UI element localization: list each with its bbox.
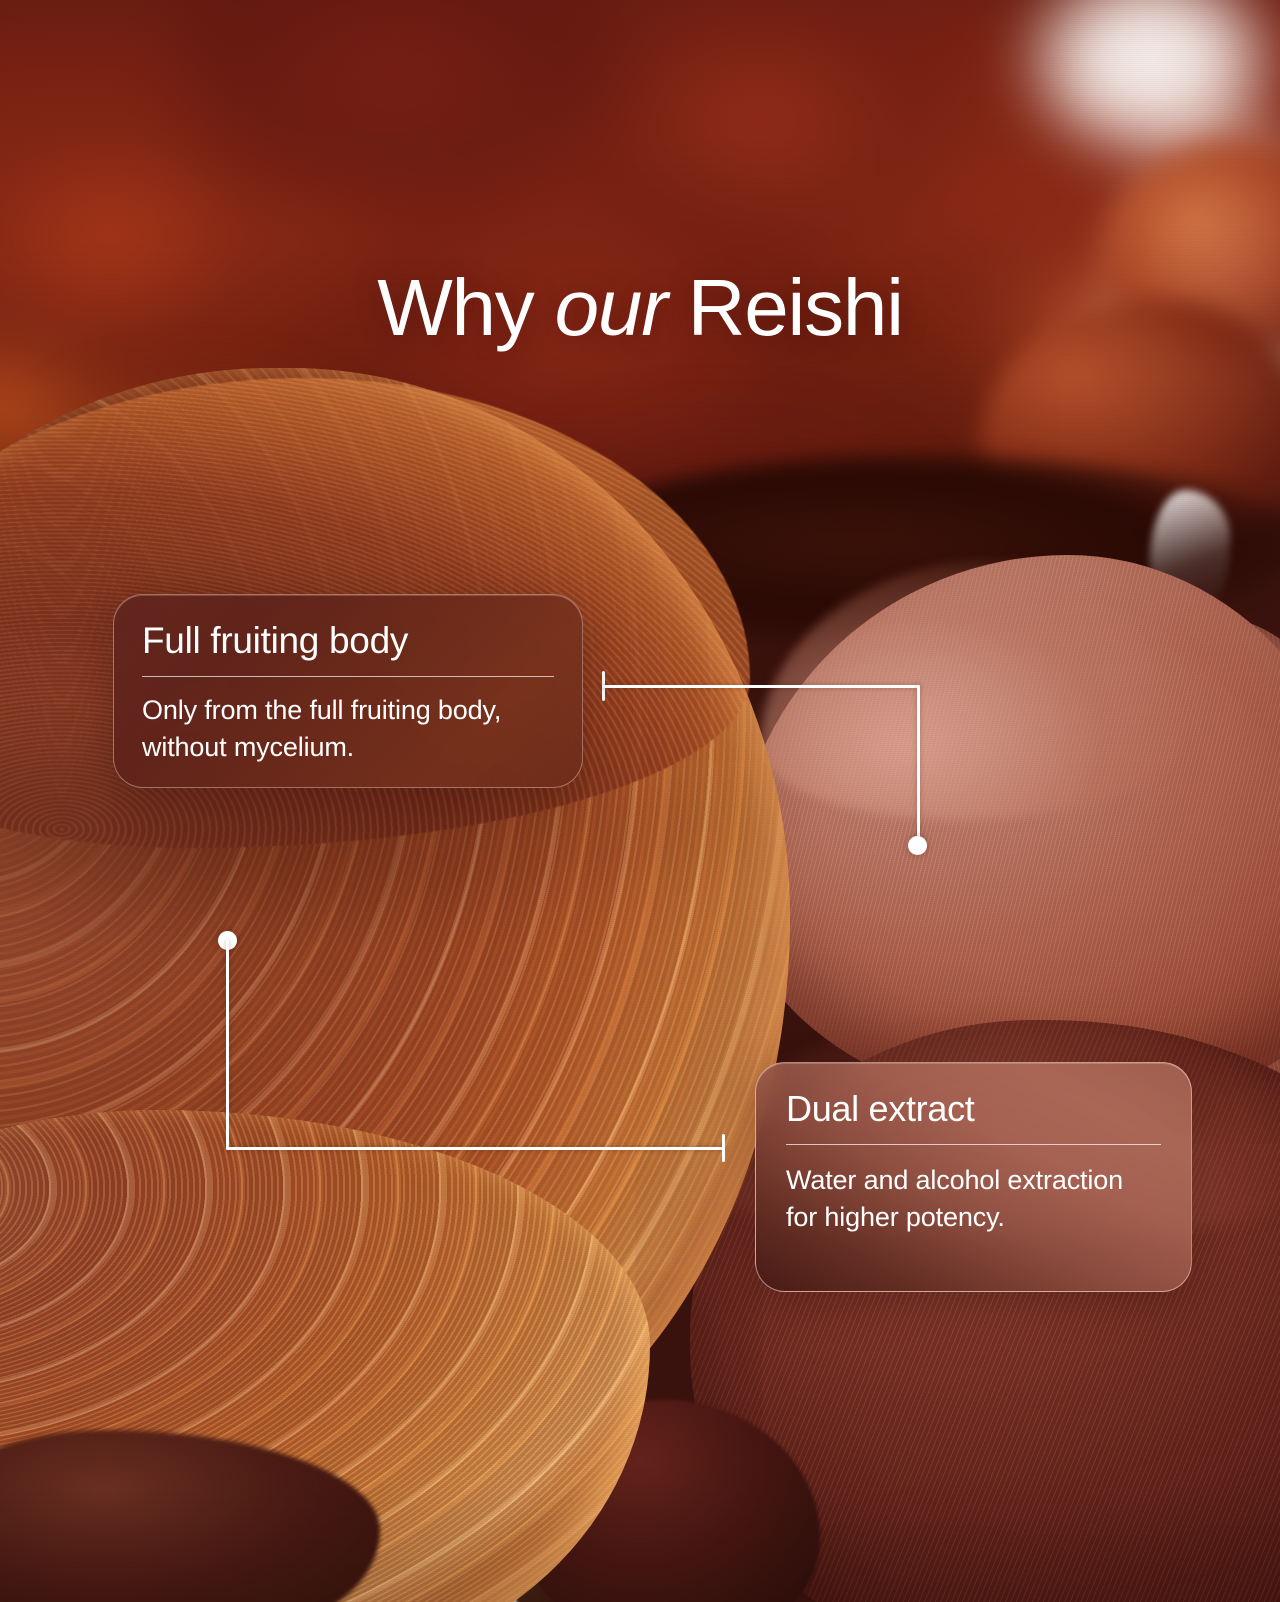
callout-card-full-fruiting-body[interactable]: Full fruiting body Only from the full fr…	[113, 594, 583, 788]
callout-card-dual-extract[interactable]: Dual extract Water and alcohol extractio…	[755, 1062, 1192, 1292]
title-part-before: Why	[377, 263, 554, 352]
bottom-vignette	[0, 1482, 1280, 1602]
title-part-after: Reishi	[667, 263, 903, 352]
callout-divider	[786, 1144, 1161, 1145]
reishi-photo-background	[0, 0, 1280, 1602]
callout-body: Only from the full fruiting body, withou…	[142, 692, 554, 767]
callout-divider	[142, 676, 554, 677]
page-title: Why our Reishi	[0, 266, 1280, 351]
callout-body: Water and alcohol extraction for higher …	[786, 1162, 1161, 1237]
marketing-banner: Why our Reishi Full fruiting body Only f…	[0, 0, 1280, 1602]
callout-title: Dual extract	[786, 1089, 1161, 1129]
title-emphasis: our	[555, 263, 667, 352]
callout-title: Full fruiting body	[142, 621, 554, 662]
